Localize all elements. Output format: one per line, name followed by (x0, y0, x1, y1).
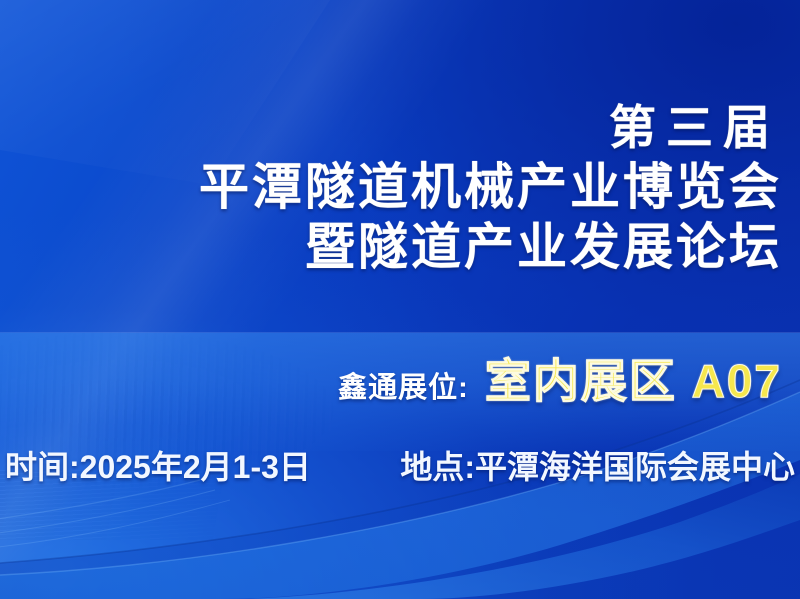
headline-edition: 第三届 (12, 104, 782, 152)
headline-block: 第三届 平潭隧道机械产业博览会 暨隧道产业发展论坛 (12, 104, 782, 273)
event-venue: 地点:平潭海洋国际会展中心 (400, 442, 795, 488)
headline-main-title: 平潭隧道机械产业博览会 (12, 162, 782, 213)
booth-row: 鑫通展位: 室内展区 A07 (0, 345, 782, 411)
booth-number: 室内展区 A07 (485, 345, 782, 411)
event-time: 时间:2025年2月1-3日 (5, 442, 311, 488)
headline-sub-title: 暨隧道产业发展论坛 (12, 222, 782, 273)
booth-label: 鑫通展位: (338, 364, 469, 406)
event-poster: 第三届 平潭隧道机械产业博览会 暨隧道产业发展论坛 鑫通展位: 室内展区 A07… (0, 0, 800, 599)
corner-arc-group (0, 480, 230, 548)
background-wave-shapes (0, 0, 800, 599)
info-row: 时间:2025年2月1-3日 地点:平潭海洋国际会展中心 (5, 442, 795, 488)
